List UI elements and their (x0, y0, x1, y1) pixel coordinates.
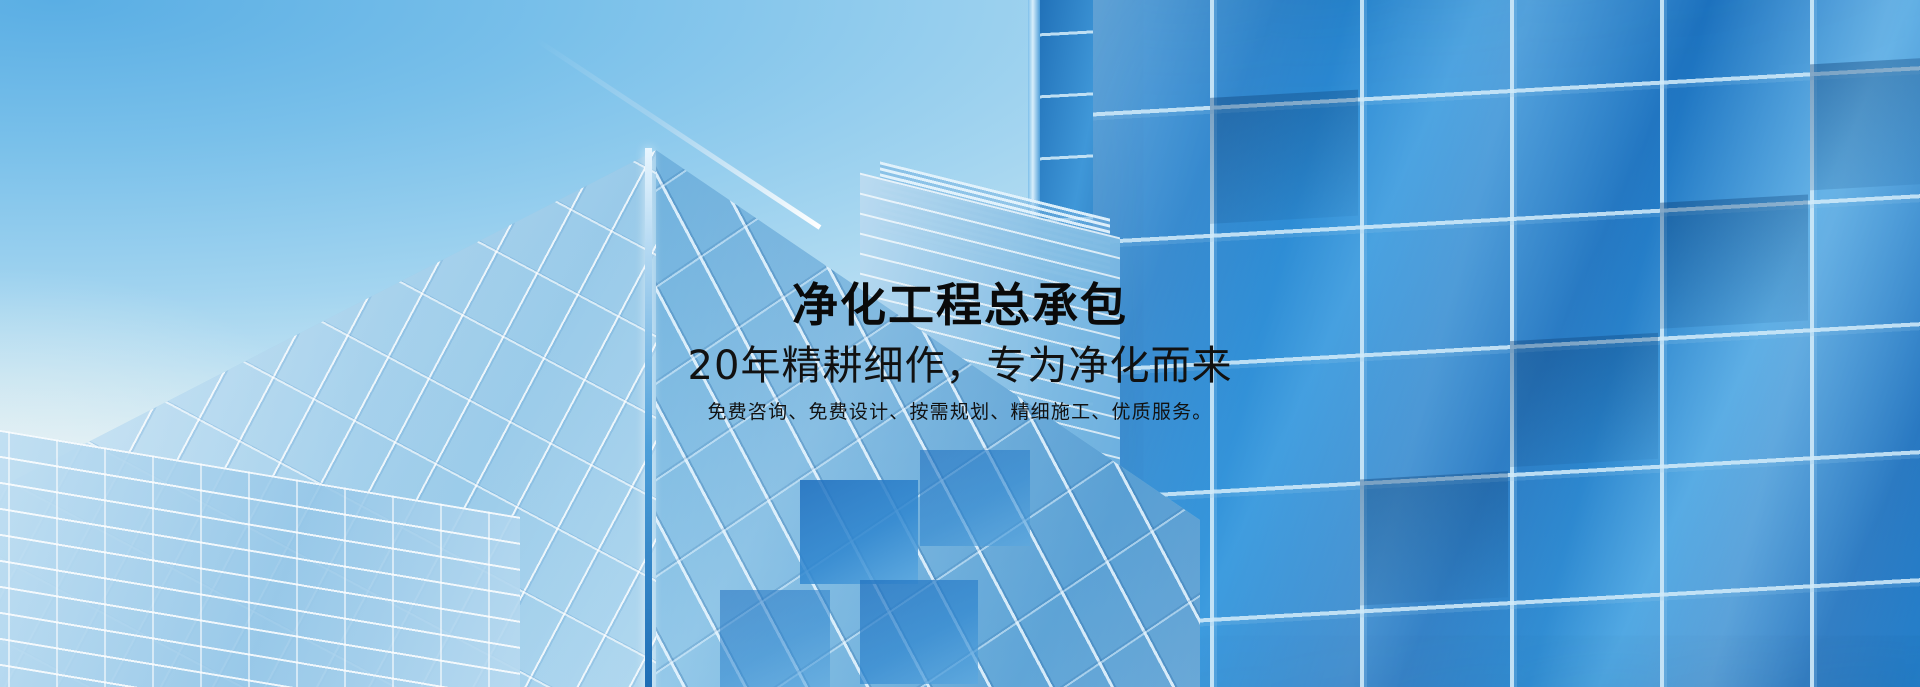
tower-panel (1360, 471, 1508, 605)
pyramid-reflection-panel (720, 590, 830, 687)
pyramid-reflection-panel (860, 580, 978, 684)
pyramid-reflection-panel (800, 480, 918, 584)
tower-panel (1210, 90, 1358, 224)
hero-banner: 净化工程总承包 20年精耕细作，专为净化而来 免费咨询、免费设计、按需规划、精细… (0, 0, 1920, 687)
hero-description: 免费咨询、免费设计、按需规划、精细施工、优质服务。 (0, 398, 1920, 427)
hero-copy-block: 净化工程总承包 20年精耕细作，专为净化而来 免费咨询、免费设计、按需规划、精细… (0, 278, 1920, 427)
page-title: 净化工程总承包 (0, 278, 1920, 332)
tower-panel (1810, 56, 1920, 190)
pyramid-reflection-panel (920, 450, 1030, 546)
hero-subtitle: 20年精耕细作，专为净化而来 (0, 342, 1920, 390)
